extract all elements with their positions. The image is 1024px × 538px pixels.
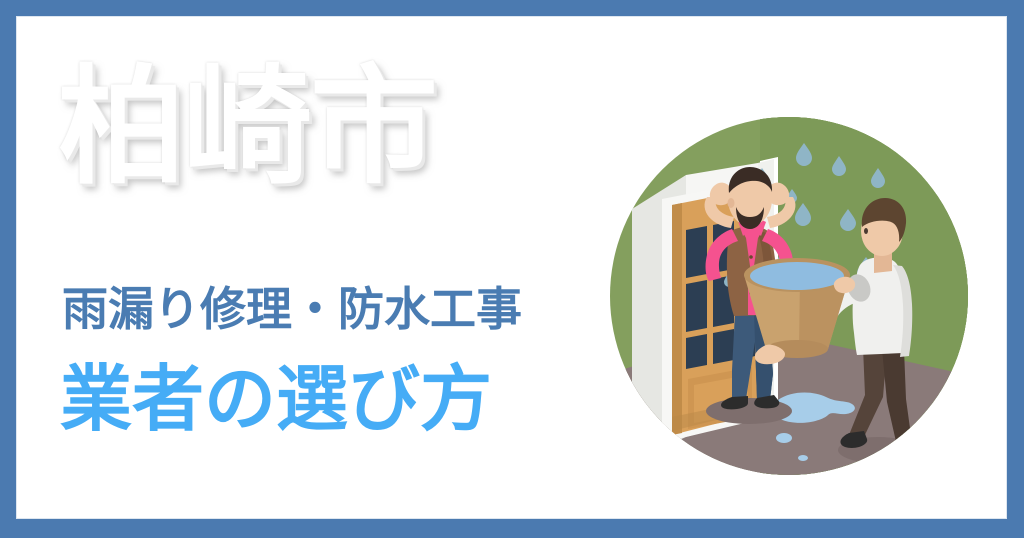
puddle-splash-a	[837, 403, 847, 410]
bucket-water	[750, 262, 844, 290]
puddle-splash-c	[798, 455, 808, 461]
banner-root: 柏崎市 雨漏り修理・防水工事 業者の選び方	[0, 0, 1024, 538]
subtitle-service-line: 雨漏り修理・防水工事	[62, 286, 522, 332]
ear	[728, 198, 735, 208]
banner-card: 柏崎市 雨漏り修理・防水工事 業者の選び方	[16, 16, 1007, 519]
roof-leak-illustration	[610, 117, 968, 475]
text-block: 柏崎市 雨漏り修理・防水工事 業者の選び方	[46, 42, 636, 462]
eye	[864, 228, 868, 234]
door-leaf-edge	[672, 203, 682, 435]
page-title: 柏崎市	[58, 64, 436, 192]
subtitle-headline: 業者の選び方	[60, 364, 492, 436]
puddle-splash-b	[776, 433, 792, 443]
illustration-scene	[610, 117, 968, 475]
